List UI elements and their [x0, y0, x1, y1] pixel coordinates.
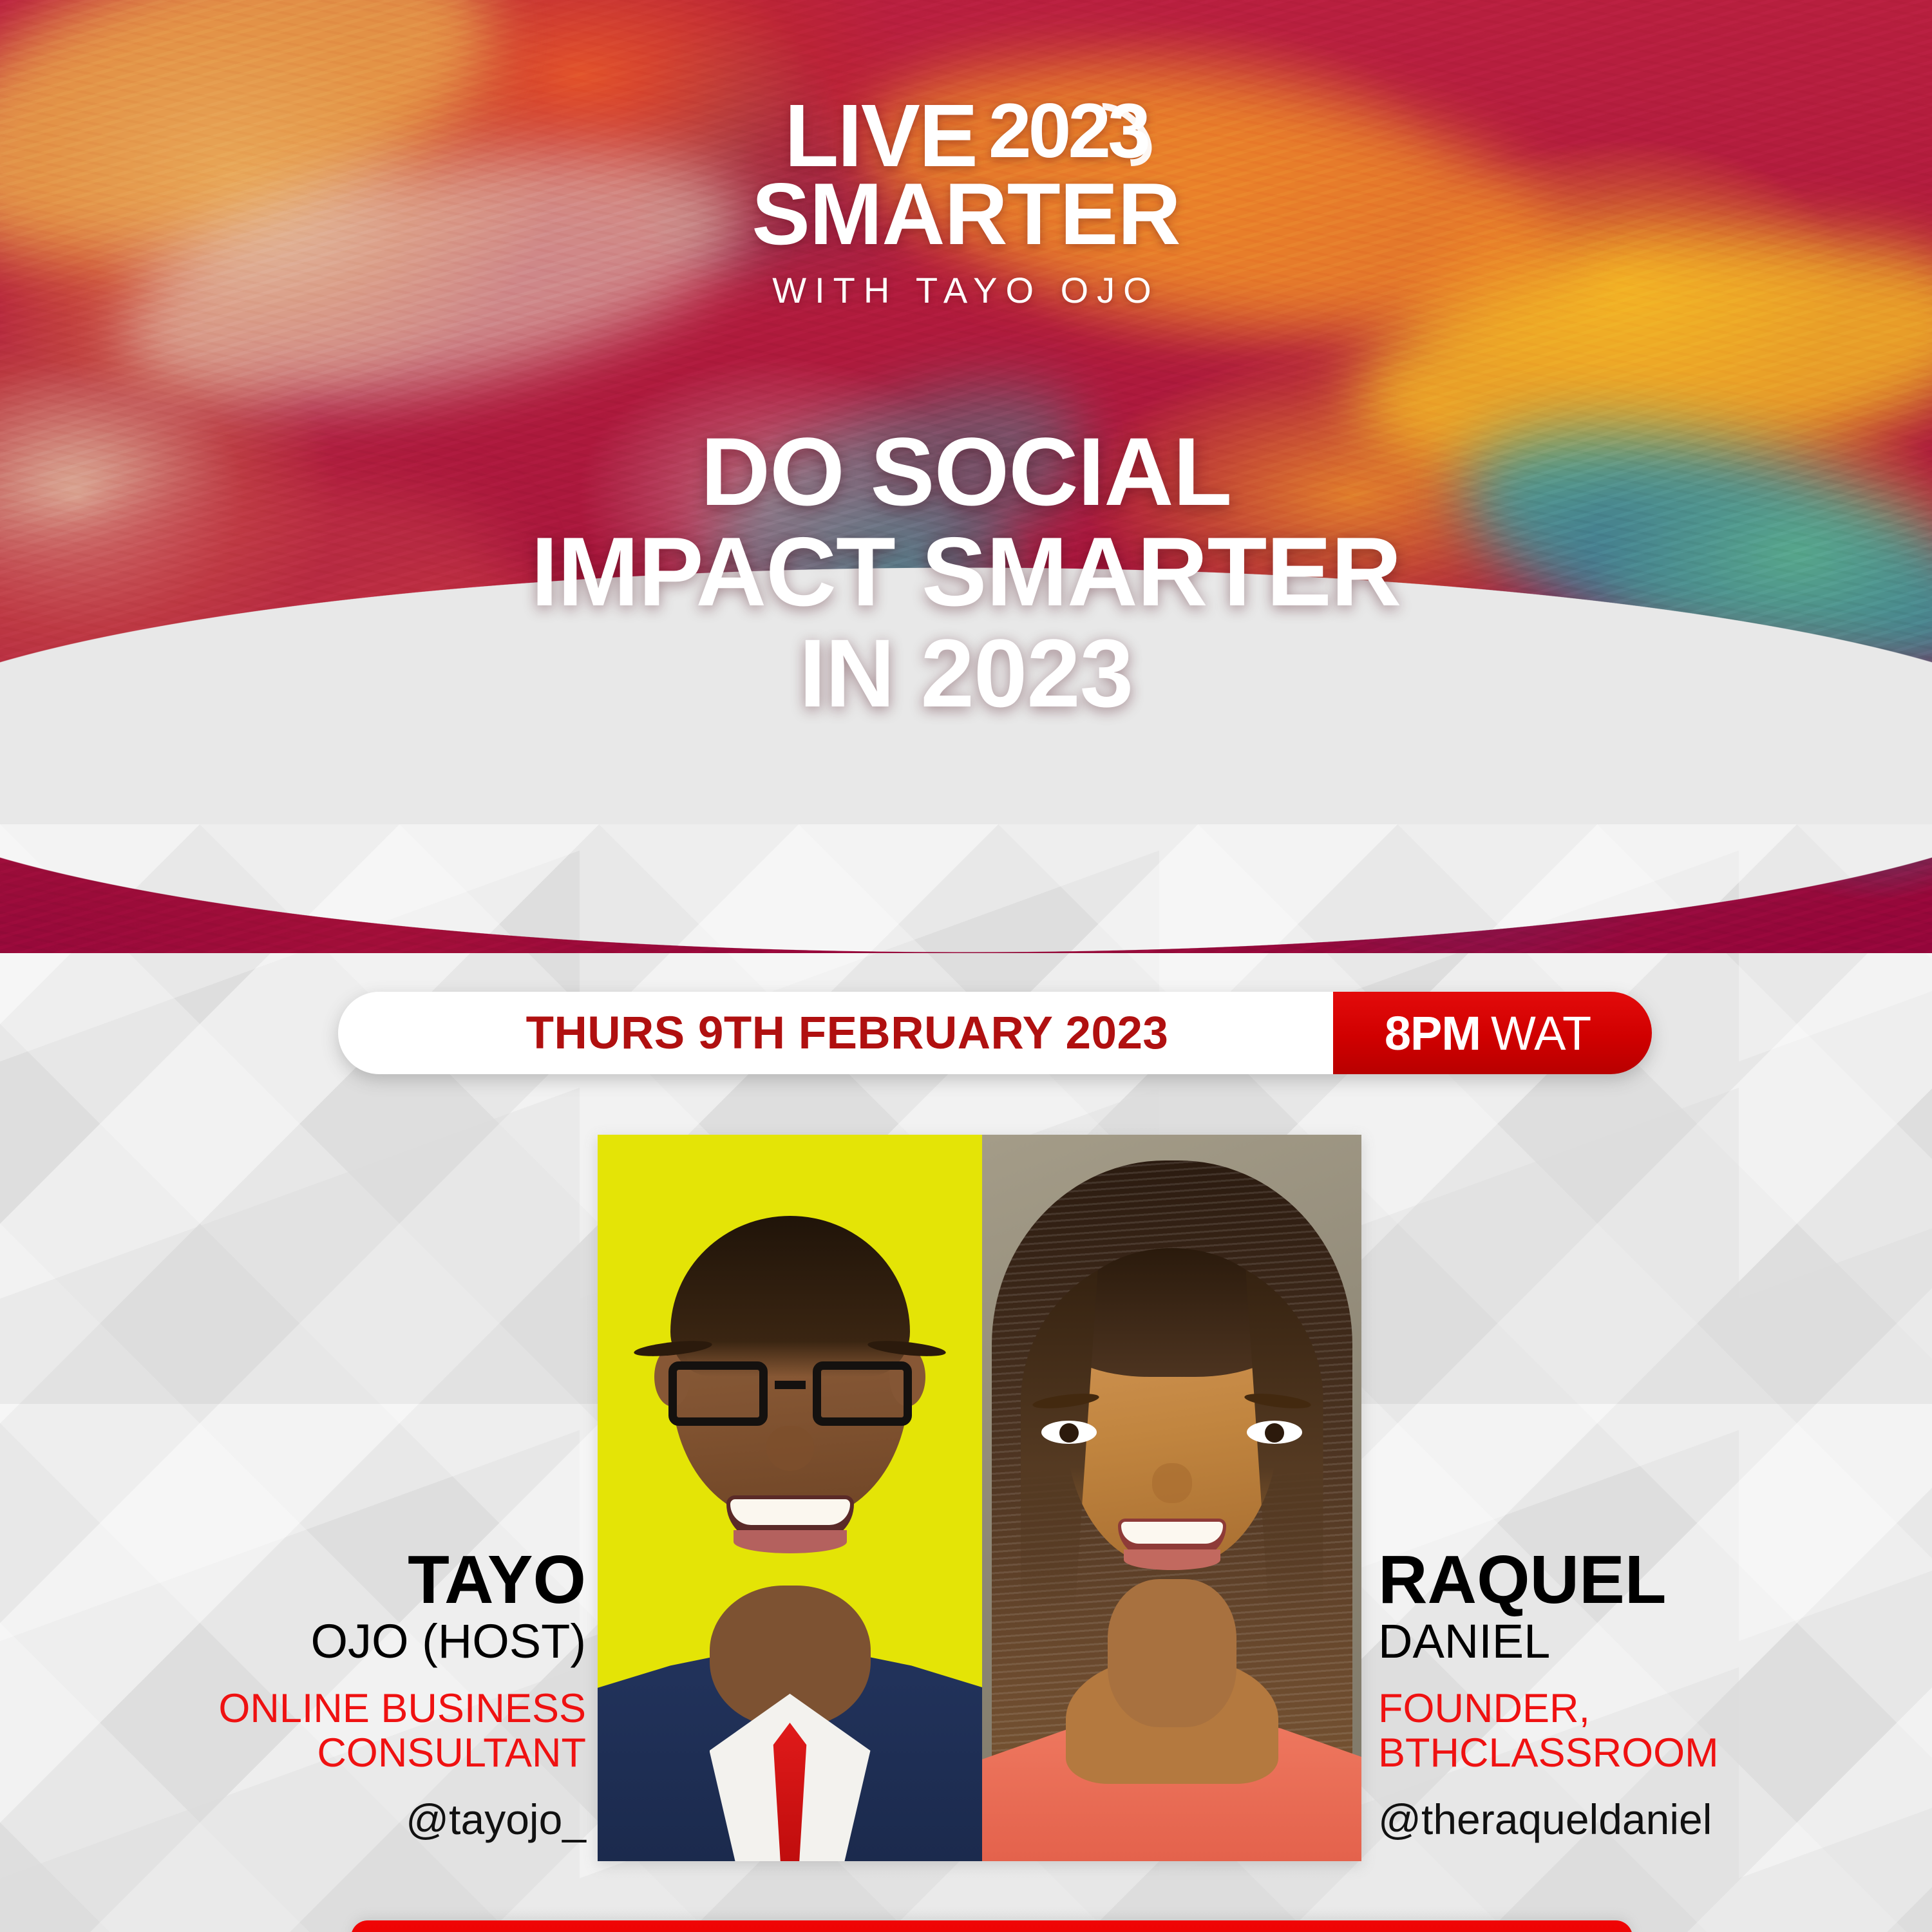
speaker-first-name: RAQUEL — [1378, 1546, 1829, 1614]
neck-shape — [1108, 1579, 1236, 1727]
event-timezone: WAT — [1491, 1006, 1591, 1061]
schedule-badge: THURS 9TH FEBRUARY 2023 8PM WAT — [338, 992, 1652, 1074]
speaker-first-name: TAYO — [174, 1546, 586, 1614]
nose-shape — [1152, 1463, 1192, 1503]
event-logo: LIVE 2023 SMARTER WITH TAYO OJO — [0, 95, 1932, 311]
event-time: 8PM — [1385, 1006, 1481, 1061]
glasses-bridge — [775, 1381, 806, 1389]
speaker-photo-raquel — [982, 1135, 1361, 1861]
speaker-photos — [598, 1135, 1361, 1861]
pupil-shape — [1265, 1423, 1284, 1443]
nose-shape — [766, 1426, 814, 1471]
event-time-badge: 8PM WAT — [1333, 992, 1652, 1074]
lower-lip-shape — [734, 1530, 847, 1553]
speaker-handle[interactable]: @theraqueldaniel — [1378, 1796, 1829, 1843]
speaker-info-tayo: TAYO OJO (HOST) ONLINE BUSINESS CONSULTA… — [174, 1546, 586, 1843]
eye-shape — [1041, 1421, 1097, 1444]
logo-smarter-word: SMARTER — [0, 172, 1932, 256]
eyeglasses-icon — [668, 1361, 912, 1428]
speaker-role: ONLINE BUSINESS CONSULTANT — [174, 1687, 586, 1776]
teeth-shape — [1121, 1522, 1223, 1544]
speaker-info-raquel: RAQUEL DANIEL FOUNDER, BTHCLASSROOM @the… — [1378, 1546, 1829, 1843]
speaker-last-name: OJO (HOST) — [174, 1615, 586, 1669]
lens-shape — [668, 1361, 768, 1426]
speaker-role: FOUNDER, BTHCLASSROOM — [1378, 1687, 1829, 1776]
pupil-shape — [1059, 1423, 1079, 1443]
page-title: DO SOCIAL IMPACT SMARTER IN 2023 — [0, 422, 1932, 723]
bottom-cta-bar — [351, 1920, 1633, 1932]
lens-shape — [813, 1361, 912, 1426]
headline-line-1: DO SOCIAL — [0, 422, 1932, 522]
logo-host-tagline: WITH TAYO OJO — [0, 269, 1932, 311]
headline-line-2: IMPACT SMARTER — [0, 522, 1932, 623]
event-poster: LIVE 2023 SMARTER WITH TAYO OJO DO SOCIA… — [0, 0, 1932, 1932]
event-date: THURS 9TH FEBRUARY 2023 — [338, 992, 1333, 1074]
logo-year-wrap: 2023 — [989, 95, 1148, 166]
speaker-photo-tayo — [598, 1135, 982, 1861]
speaker-handle[interactable]: @tayojo_ — [174, 1796, 586, 1843]
speaker-last-name: DANIEL — [1378, 1615, 1829, 1669]
eye-shape — [1247, 1421, 1302, 1444]
teeth-shape — [730, 1499, 850, 1525]
hair-shape — [670, 1216, 910, 1377]
headline-line-3: IN 2023 — [0, 623, 1932, 723]
lower-lip-shape — [1124, 1549, 1220, 1570]
